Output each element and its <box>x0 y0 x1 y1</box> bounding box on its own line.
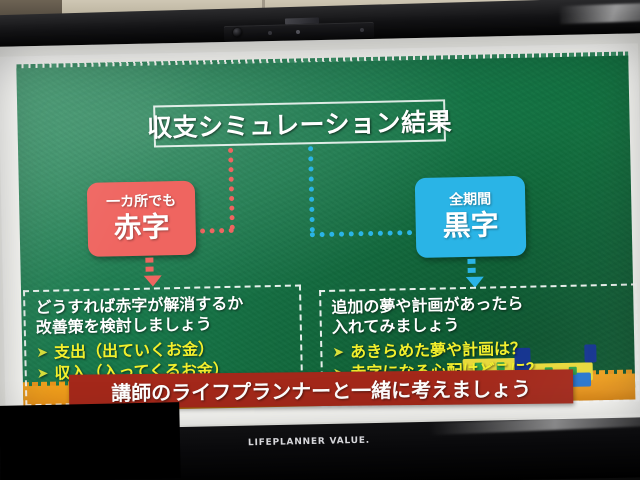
bullet-arrow-icon: ➤ <box>37 365 49 383</box>
tv-screen: 収支シミュレーション結果 一カ所でも 赤字 全期間 黒字 <box>0 33 640 447</box>
bezel-glare-reflection <box>560 2 640 24</box>
surplus-box-title: 黒字 <box>442 209 499 242</box>
banner-label: 講師のライフプランナーと一緒に考えましょう <box>111 372 531 405</box>
bullet-arrow-icon: ➤ <box>36 344 48 362</box>
photograph-of-tv-screen: 収支シミュレーション結果 一カ所でも 赤字 全期間 黒字 <box>0 0 640 480</box>
presentation-slide: 収支シミュレーション結果 一カ所でも 赤字 全期間 黒字 <box>0 43 640 428</box>
bezel-dark-corner <box>0 402 181 480</box>
surplus-callout-box: 全期間 黒字 <box>415 176 527 258</box>
left-panel-heading-line2: 改善策を検討しましょう <box>36 313 292 339</box>
deficit-box-title: 赤字 <box>113 211 170 244</box>
arrow-down-blue-icon <box>465 259 478 288</box>
right-panel-heading-line2: 入れてみましょう <box>332 312 628 339</box>
slide-title-box: 収支シミュレーション結果 <box>153 99 446 147</box>
surplus-box-subtitle: 全期間 <box>449 193 491 209</box>
bullet-arrow-icon: ➤ <box>332 344 344 362</box>
deficit-box-subtitle: 一カ所でも <box>106 194 176 211</box>
deficit-callout-box: 一カ所でも 赤字 <box>87 181 197 257</box>
slide-title: 収支シミュレーション結果 <box>147 102 453 144</box>
arrow-down-red-icon <box>143 257 156 286</box>
